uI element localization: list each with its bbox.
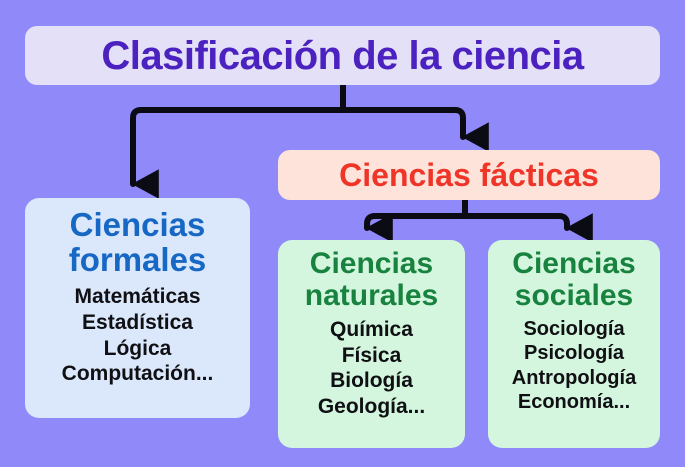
node-ciencias-formales[interactable]: Ciencias formales Matemáticas Estadístic… xyxy=(25,198,250,418)
node-naturales-items: Química Física Biología Geología... xyxy=(318,317,425,419)
node-naturales-title-line2: naturales xyxy=(305,280,438,312)
list-item: Computación... xyxy=(62,361,214,387)
node-naturales-title: Ciencias naturales xyxy=(305,248,438,311)
node-ciencias-sociales[interactable]: Ciencias sociales Sociología Psicología … xyxy=(488,240,660,448)
list-item: Biología xyxy=(318,368,425,394)
node-sociales-title-line2: sociales xyxy=(512,280,635,312)
node-ciencias-facticas[interactable]: Ciencias fácticas xyxy=(278,150,660,200)
list-item: Matemáticas xyxy=(62,284,214,310)
node-sociales-title-line1: Ciencias xyxy=(512,248,635,280)
node-formales-title-line2: formales xyxy=(69,243,207,278)
connector-facticas-to-naturales xyxy=(367,216,465,228)
node-formales-items: Matemáticas Estadística Lógica Computaci… xyxy=(62,284,214,386)
node-naturales-title-line1: Ciencias xyxy=(305,248,438,280)
list-item: Sociología xyxy=(512,317,636,341)
node-root-title: Clasificación de la ciencia xyxy=(101,36,583,76)
node-clasificacion-de-la-ciencia[interactable]: Clasificación de la ciencia xyxy=(25,26,660,85)
list-item: Psicología xyxy=(512,341,636,365)
connector-facticas-to-sociales xyxy=(465,216,567,228)
list-item: Estadística xyxy=(62,310,214,336)
list-item: Economía... xyxy=(512,390,636,414)
list-item: Lógica xyxy=(62,336,214,362)
node-formales-title: Ciencias formales xyxy=(69,208,207,277)
node-sociales-title: Ciencias sociales xyxy=(512,248,635,311)
connector-root-branch xyxy=(133,85,553,110)
node-ciencias-naturales[interactable]: Ciencias naturales Química Física Biolog… xyxy=(278,240,465,448)
list-item: Química xyxy=(318,317,425,343)
list-item: Antropología xyxy=(512,366,636,390)
diagram-canvas: Clasificación de la ciencia Ciencias fác… xyxy=(0,0,685,467)
list-item: Física xyxy=(318,343,425,369)
node-sociales-items: Sociología Psicología Antropología Econo… xyxy=(512,317,636,415)
list-item: Geología... xyxy=(318,394,425,420)
connector-root-to-facticas xyxy=(343,110,463,137)
node-facticas-title: Ciencias fácticas xyxy=(339,159,599,191)
node-formales-title-line1: Ciencias xyxy=(69,208,207,243)
